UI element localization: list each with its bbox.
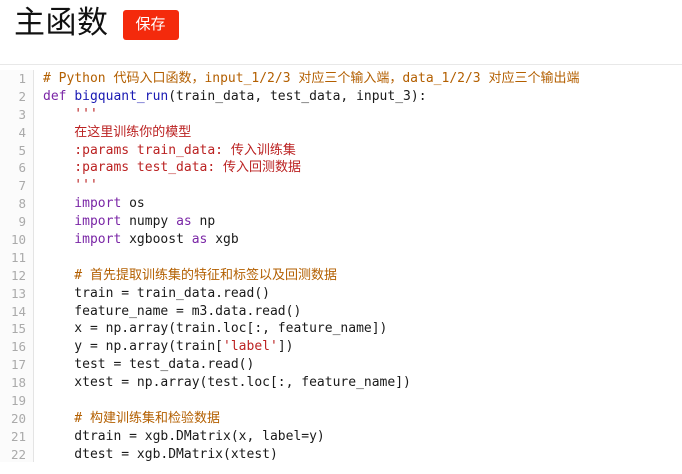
code-token-str: :params test_data: 传入回测数据 [43, 160, 301, 175]
code-token-pln: numpy [121, 214, 176, 229]
line-number: 6 [0, 159, 26, 177]
code-token-com: # 首先提取训练集的特征和标签以及回测数据 [43, 268, 337, 283]
line-number: 7 [0, 177, 26, 195]
save-button[interactable]: 保存 [123, 10, 179, 40]
line-number: 4 [0, 124, 26, 142]
code-line[interactable]: def bigquant_run(train_data, test_data, … [43, 88, 682, 106]
line-number: 10 [0, 231, 26, 249]
line-number-gutter: 1234567891011121314151617181920212223 [0, 70, 34, 462]
code-token-pln: dtrain = xgb.DMatrix(x, label=y) [43, 429, 325, 444]
code-line[interactable]: # Python 代码入口函数，input_1/2/3 对应三个输入端，data… [43, 70, 682, 88]
line-number: 17 [0, 356, 26, 374]
code-line[interactable]: x = np.array(train.loc[:, feature_name]) [43, 320, 682, 338]
page-title: 主函数 [14, 6, 109, 40]
line-number: 9 [0, 213, 26, 231]
code-token-pln: feature_name = m3.data.read() [43, 304, 301, 319]
code-line[interactable]: 在这里训练你的模型 [43, 124, 682, 142]
line-number: 18 [0, 374, 26, 392]
code-token-kw: as [176, 214, 192, 229]
code-line[interactable]: test = test_data.read() [43, 356, 682, 374]
line-number: 21 [0, 428, 26, 446]
page-header: 主函数 保存 [0, 0, 682, 44]
line-number: 20 [0, 410, 26, 428]
code-line[interactable]: xtest = np.array(test.loc[:, feature_nam… [43, 374, 682, 392]
line-number: 1 [0, 70, 26, 88]
code-line[interactable]: import os [43, 195, 682, 213]
line-number: 13 [0, 285, 26, 303]
code-token-com: # Python 代码入口函数，input_1/2/3 对应三个输入端，data… [43, 71, 579, 86]
code-line[interactable]: :params test_data: 传入回测数据 [43, 159, 682, 177]
line-number: 8 [0, 195, 26, 213]
code-token-kw: def [43, 89, 66, 104]
line-number: 16 [0, 338, 26, 356]
code-token-pln: xgboost [121, 232, 191, 247]
line-number: 11 [0, 249, 26, 267]
line-number: 5 [0, 142, 26, 160]
code-line[interactable]: import numpy as np [43, 213, 682, 231]
code-token-pln: dtest = xgb.DMatrix(xtest) [43, 447, 278, 462]
code-line[interactable] [43, 249, 682, 267]
code-line[interactable]: ''' [43, 106, 682, 124]
code-token-com: # 构建训练集和检验数据 [43, 411, 220, 426]
code-line[interactable]: train = train_data.read() [43, 285, 682, 303]
line-number: 14 [0, 303, 26, 321]
code-token-kw: import [43, 214, 121, 229]
code-line[interactable] [43, 392, 682, 410]
code-line[interactable]: # 首先提取训练集的特征和标签以及回测数据 [43, 267, 682, 285]
code-token-pln: xgb [207, 232, 238, 247]
code-line[interactable]: dtest = xgb.DMatrix(xtest) [43, 446, 682, 462]
code-line[interactable]: dtrain = xgb.DMatrix(x, label=y) [43, 428, 682, 446]
code-token-kw: import [43, 196, 121, 211]
code-token-pln: xtest = np.array(test.loc[:, feature_nam… [43, 375, 411, 390]
code-token-pln: os [121, 196, 144, 211]
line-number: 12 [0, 267, 26, 285]
code-line[interactable]: # 构建训练集和检验数据 [43, 410, 682, 428]
line-number: 3 [0, 106, 26, 124]
code-content[interactable]: # Python 代码入口函数，input_1/2/3 对应三个输入端，data… [34, 70, 682, 462]
code-token-kw: as [192, 232, 208, 247]
code-token-pln: x = np.array(train.loc[:, feature_name]) [43, 321, 387, 336]
code-line[interactable]: y = np.array(train['label']) [43, 338, 682, 356]
code-token-pln: y = np.array(train[ [43, 339, 223, 354]
code-token-str: 'label' [223, 339, 278, 354]
code-token-str: 在这里训练你的模型 [43, 125, 191, 140]
code-line[interactable]: :params train_data: 传入训练集 [43, 142, 682, 160]
code-token-pln: ]) [278, 339, 294, 354]
code-token-str: :params train_data: 传入训练集 [43, 143, 296, 158]
line-number: 15 [0, 320, 26, 338]
code-line[interactable]: ''' [43, 177, 682, 195]
line-number: 22 [0, 446, 26, 462]
code-token-fn: bigquant_run [74, 89, 168, 104]
code-line[interactable]: feature_name = m3.data.read() [43, 303, 682, 321]
code-token-pln: test = test_data.read() [43, 357, 254, 372]
code-token-str: ''' [43, 107, 98, 122]
code-token-str: ''' [43, 178, 98, 193]
code-line[interactable]: import xgboost as xgb [43, 231, 682, 249]
code-editor-body[interactable]: 1234567891011121314151617181920212223 # … [0, 65, 682, 462]
line-number: 2 [0, 88, 26, 106]
code-token-pln: np [192, 214, 215, 229]
code-token-pln: train = train_data.read() [43, 286, 270, 301]
code-token-pln: (train_data, test_data, input_3): [168, 89, 426, 104]
line-number: 19 [0, 392, 26, 410]
code-editor[interactable]: 1234567891011121314151617181920212223 # … [0, 64, 682, 462]
code-token-kw: import [43, 232, 121, 247]
